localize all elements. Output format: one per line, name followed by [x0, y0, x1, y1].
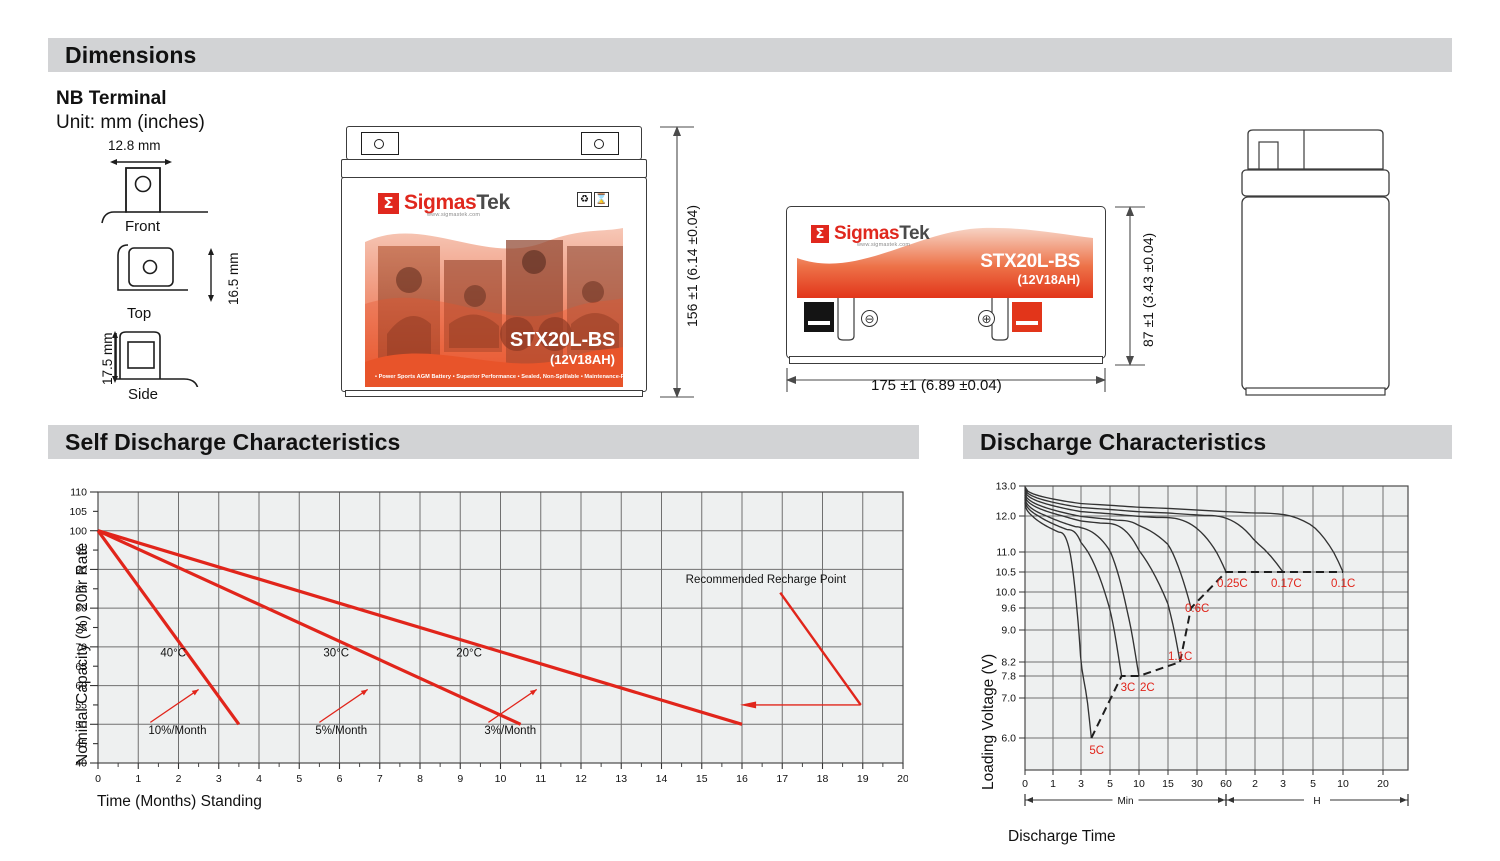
discharge-x-axis-title: Discharge Time	[1008, 828, 1116, 846]
battery-terminal-group	[786, 298, 1106, 356]
self-discharge-annotation: Recommended Recharge Point	[686, 574, 847, 586]
unit-note: Unit: mm (inches)	[56, 112, 205, 134]
discharge-x-tick: 60	[1220, 778, 1232, 790]
section-header-discharge: Discharge Characteristics	[963, 425, 1452, 459]
section-title-discharge: Discharge Characteristics	[963, 429, 1266, 456]
discharge-x-tick: 5	[1107, 778, 1113, 790]
discharge-y-tick: 6.0	[1001, 733, 1016, 745]
self-discharge-x-tick: 11	[535, 773, 546, 785]
discharge-curve-label-5C: 5C	[1089, 745, 1104, 757]
battery-side-height-label: 87 ±1 (3.43 ±0.04)	[1140, 233, 1156, 347]
self-discharge-annotation: 30°C	[323, 648, 349, 660]
self-discharge-x-tick: 20	[897, 773, 908, 785]
sigma-logo-icon-side: Σ	[811, 225, 829, 243]
battery-collar	[341, 159, 647, 178]
self-discharge-x-tick: 9	[457, 773, 463, 785]
brand-name-secondary-side: Tek	[899, 223, 929, 244]
discharge-x-tick: 20	[1377, 778, 1389, 790]
section-title-self-discharge: Self Discharge Characteristics	[48, 429, 400, 456]
battery-hole-left	[374, 139, 384, 149]
discharge-x-tick: 10	[1337, 778, 1349, 790]
recycle-icon: ♻	[577, 192, 592, 207]
discharge-x-tick: 1	[1050, 778, 1056, 790]
self-discharge-x-tick: 7	[377, 773, 383, 785]
section-header-self-discharge: Self Discharge Characteristics	[48, 425, 919, 459]
self-discharge-x-tick: 13	[615, 773, 627, 785]
battery-front-label: Σ SigmasTek www.sigmastek.com ♻ ⌛ STX20L…	[365, 184, 623, 387]
brand-name-secondary: Tek	[476, 191, 509, 214]
positive-terminal-slot	[1016, 321, 1038, 325]
discharge-y-tick: 10.0	[996, 587, 1017, 599]
self-discharge-x-tick: 19	[857, 773, 869, 785]
discharge-x-tick: 2	[1252, 778, 1258, 790]
brand-name-primary: Sigmas	[404, 191, 476, 214]
discharge-curve-label-3C: 3C	[1121, 682, 1136, 694]
section-title-dimensions: Dimensions	[48, 42, 196, 69]
brand-website-side: www.sigmastek.com	[857, 242, 910, 248]
self-discharge-x-tick: 14	[656, 773, 668, 785]
discharge-axis-span-hour: H	[1313, 796, 1320, 807]
self-discharge-y-axis-title: Nominal Capacity (%) 20hr Rate	[74, 543, 92, 765]
self-discharge-x-tick: 6	[337, 773, 343, 785]
brand-name-primary-side: Sigmas	[834, 223, 899, 244]
discharge-curve-label-0.1C: 0.1C	[1331, 578, 1355, 590]
self-discharge-x-tick: 5	[296, 773, 302, 785]
self-discharge-x-tick: 10	[495, 773, 507, 785]
discharge-y-tick: 9.6	[1001, 603, 1016, 615]
terminal-depth-arrow	[206, 248, 216, 302]
battery-hole-right	[594, 139, 604, 149]
discharge-y-tick: 7.8	[1001, 671, 1016, 683]
terminal-depth-label: 16.5 mm	[226, 252, 241, 305]
discharge-y-tick: 13.0	[996, 481, 1017, 493]
battery-height-label: 156 ±1 (6.14 ±0.04)	[684, 205, 700, 327]
discharge-y-axis-title: Loading Voltage (V)	[980, 654, 998, 790]
brand-website: www.sigmastek.com	[427, 212, 480, 218]
self-discharge-annotation: 10%/Month	[148, 725, 206, 737]
discharge-curve-label-0.17C: 0.17C	[1271, 578, 1302, 590]
sigma-logo-icon: Σ	[378, 193, 399, 214]
discharge-curve-label-2C: 2C	[1140, 682, 1155, 694]
discharge-x-tick: 3	[1280, 778, 1286, 790]
terminal-side-label: Side	[128, 386, 158, 403]
self-discharge-x-axis-title: Time (Months) Standing	[97, 793, 262, 811]
section-header-dimensions: Dimensions	[48, 38, 1452, 72]
discharge-y-tick: 12.0	[996, 511, 1017, 523]
battery-side-label: Σ SigmasTek www.sigmastek.com STX20L-BS …	[797, 218, 1093, 298]
self-discharge-y-tick: 105	[69, 506, 87, 518]
self-discharge-y-tick: 110	[70, 487, 87, 499]
self-discharge-x-tick: 17	[776, 773, 788, 785]
negative-terminal-slot	[808, 321, 830, 325]
discharge-y-tick: 9.0	[1001, 625, 1016, 637]
discharge-curve-label-0.6C: 0.6C	[1185, 603, 1209, 615]
battery-front-view: Σ SigmasTek www.sigmastek.com ♻ ⌛ STX20L…	[341, 126, 647, 397]
battery-model-spec-front: (12V18AH)	[415, 352, 615, 367]
self-discharge-x-tick: 4	[256, 773, 262, 785]
nb-terminal-heading: NB Terminal	[56, 88, 167, 110]
battery-side-view: Σ SigmasTek www.sigmastek.com STX20L-BS …	[786, 206, 1106, 366]
terminal-height-label: 17.5 mm	[100, 332, 115, 385]
self-discharge-annotation: 40°C	[160, 648, 186, 660]
battery-length-label: 175 ±1 (6.89 ±0.04)	[871, 377, 1002, 394]
battery-profile-view	[1228, 122, 1408, 402]
self-discharge-annotation: 3%/Month	[484, 725, 536, 737]
self-discharge-x-tick: 1	[135, 773, 141, 785]
discharge-x-tick: 5	[1310, 778, 1316, 790]
self-discharge-x-tick: 0	[95, 773, 101, 785]
battery-model-side: STX20L-BS	[980, 251, 1080, 273]
discharge-curve-label-0.25C: 0.25C	[1217, 578, 1248, 590]
negative-polarity-icon: ⊖	[861, 310, 878, 327]
discharge-x-tick: 10	[1133, 778, 1145, 790]
battery-model-spec-side: (12V18AH)	[1017, 273, 1080, 287]
battery-side-foot	[789, 356, 1103, 364]
discharge-y-tick: 7.0	[1001, 693, 1016, 705]
discharge-axis-span-min: Min	[1117, 796, 1133, 807]
battery-tagline: • Power Sports AGM Battery • Superior Pe…	[375, 374, 623, 380]
self-discharge-x-tick: 15	[696, 773, 708, 785]
positive-polarity-icon: ⊕	[978, 310, 995, 327]
discharge-y-tick: 8.2	[1001, 657, 1016, 669]
discharge-y-tick: 11.0	[996, 547, 1016, 559]
battery-model-front: STX20L-BS	[415, 329, 615, 352]
self-discharge-x-tick: 18	[817, 773, 829, 785]
discharge-x-tick: 0	[1022, 778, 1028, 790]
battery-foot	[345, 390, 643, 397]
self-discharge-x-tick: 16	[736, 773, 748, 785]
self-discharge-x-tick: 8	[417, 773, 423, 785]
terminal-width-label: 12.8 mm	[108, 138, 161, 153]
discharge-chart: 6.07.07.88.29.09.610.010.511.012.013.001…	[963, 470, 1443, 840]
discharge-y-tick: 10.5	[996, 567, 1017, 579]
discharge-x-tick: 3	[1078, 778, 1084, 790]
discharge-x-tick: 30	[1191, 778, 1203, 790]
self-discharge-annotation: 20°C	[456, 648, 482, 660]
self-discharge-x-tick: 12	[575, 773, 587, 785]
discharge-curve-label-1.1C: 1.1C	[1168, 651, 1192, 663]
self-discharge-x-tick: 3	[216, 773, 222, 785]
positive-terminal-block	[1012, 302, 1042, 332]
self-discharge-chart: 4045505560657075808590951001051100123456…	[48, 470, 908, 815]
self-discharge-y-tick: 100	[69, 525, 87, 537]
negative-terminal-block	[804, 302, 834, 332]
do-not-dispose-icon: ⌛	[594, 192, 609, 207]
terminal-top-label: Top	[127, 305, 151, 322]
self-discharge-x-tick: 2	[176, 773, 182, 785]
terminal-front-label: Front	[125, 218, 160, 235]
self-discharge-annotation: 5%/Month	[315, 725, 367, 737]
discharge-x-tick: 15	[1162, 778, 1174, 790]
terminal-top-view	[98, 242, 213, 302]
